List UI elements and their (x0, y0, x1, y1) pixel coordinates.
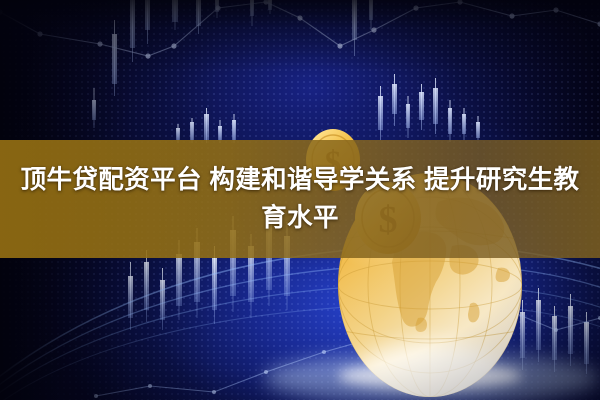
page-title: 顶牛贷配资平台 构建和谐导学关系 提升研究生教育水平 (20, 161, 580, 237)
title-band-content: 顶牛贷配资平台 构建和谐导学关系 提升研究生教育水平 (0, 140, 600, 258)
promo-banner: $ $ 顶牛贷配资平台 构建和谐导学关系 提升研究生教育水平 (0, 0, 600, 400)
